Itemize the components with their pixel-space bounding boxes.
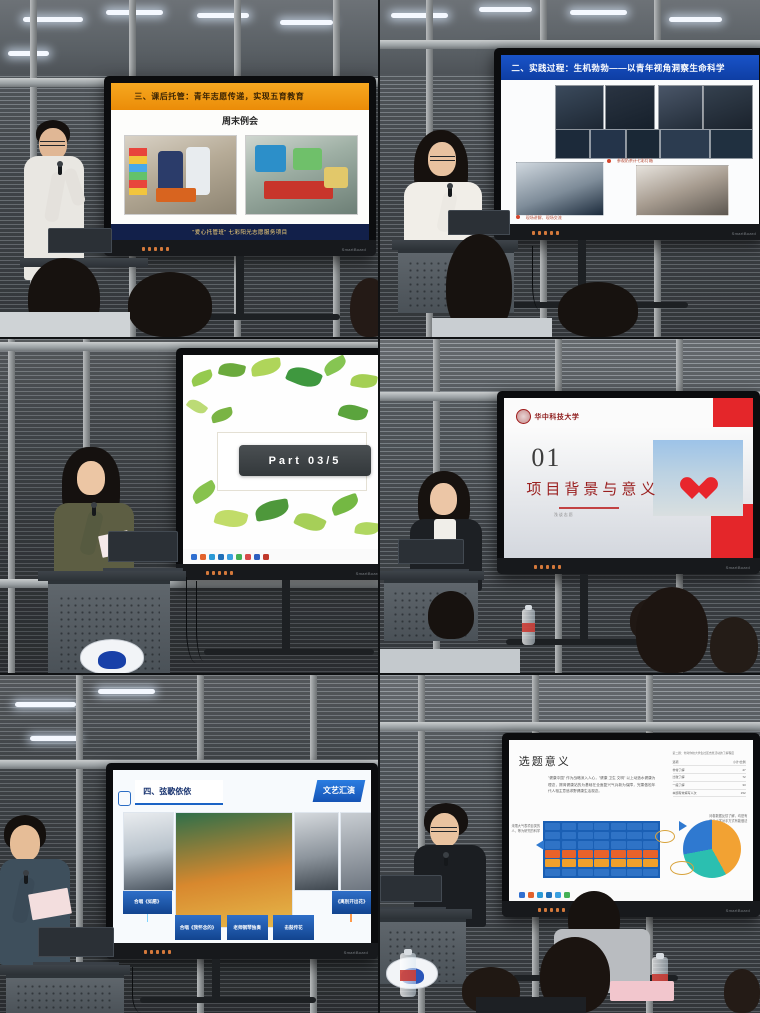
- table-row: 比较了解72: [673, 774, 746, 782]
- slide-topic-significance: 选题意义 "健康中国" 作为战略深入人心，"健康 卫生 文明" 以上动造水健康为…: [509, 740, 753, 901]
- brand-mark: SmartBoard: [342, 247, 366, 252]
- slide-badge: 文艺汇演: [313, 780, 366, 802]
- status-leds: [532, 231, 559, 235]
- ceiling: [0, 0, 378, 74]
- presenter-desk: [380, 909, 472, 919]
- slide-banner: 二、实践过程：生机勃勃——以青年视角洞察生命科学: [501, 55, 759, 80]
- presenter-desk: [380, 571, 484, 580]
- slide-subtitle: 周末例会: [111, 114, 369, 127]
- photo-collage: 三、课后托管：青年志愿传递，实现五育教育 周末例会: [0, 0, 760, 1013]
- audience-head: [724, 969, 760, 1013]
- panel-middle-left: Part 03/5 SmartBoard: [0, 339, 378, 673]
- highlight-ring: [655, 830, 675, 843]
- water-bottle: [400, 953, 416, 997]
- laptop[interactable]: [398, 539, 464, 573]
- panel-top-right: 二、实践过程：生机勃勃——以青年视角洞察生命科学: [380, 0, 760, 337]
- taskbar[interactable]: [509, 890, 753, 901]
- status-leds: [144, 950, 171, 954]
- ceiling-light: [15, 702, 75, 707]
- heart-icon: [692, 478, 718, 502]
- ceiling-light: [479, 7, 532, 12]
- smartboard-screen: 选题意义 "健康中国" 作为战略深入人心，"健康 卫生 文明" 以上动造水健康为…: [509, 740, 753, 901]
- podium-emblem: [80, 639, 144, 673]
- slide-caption: 老师钢琴独奏: [227, 915, 268, 939]
- smartboard-base: [204, 649, 374, 655]
- laptop[interactable]: [380, 875, 442, 911]
- smartboard-stand: [282, 580, 290, 654]
- slide-photo: [340, 812, 371, 892]
- smartboard-stand: [580, 574, 588, 644]
- slide-heatmap: [543, 821, 660, 879]
- ceiling-light: [30, 736, 79, 741]
- red-block: [713, 398, 753, 427]
- brand-mark: SmartBoard: [726, 908, 750, 913]
- pointer-arrow: [536, 840, 544, 850]
- slide-body-text: "健康中国" 作为战略深入人心，"健康 卫生 文明" 以上动造水健康为理念，擦育…: [548, 775, 655, 793]
- section-sub-label: 浅谈志愿: [554, 512, 574, 518]
- slide-badge-label: 文艺汇演: [323, 785, 355, 796]
- university-seal-icon: [516, 409, 531, 424]
- slide-annotation: 现场讲解、现场交流: [526, 215, 562, 221]
- brand-mark: SmartBoard: [344, 950, 368, 955]
- smartboard-screen: 二、实践过程：生机勃勃——以青年视角洞察生命科学: [501, 55, 759, 224]
- slide-part-divider: Part 03/5: [183, 355, 378, 564]
- smartboard[interactable]: 三、课后托管：青年志愿传递，实现五育教育 周末例会: [104, 76, 376, 256]
- panel-bottom-left: 四、弦歌依依 文艺汇演 合唱《如愿》 合唱《我怀念的》: [0, 675, 378, 1013]
- slide-caption: 击鼓传花: [273, 915, 314, 939]
- slide-title: 选题意义: [519, 753, 571, 769]
- panel-bottom-right: 选题意义 "健康中国" 作为战略深入人心，"健康 卫生 文明" 以上动造水健康为…: [380, 675, 760, 1013]
- slide-banner: 三、课后托管：青年志愿传递，实现五育教育: [111, 83, 369, 110]
- smartboard-chin: SmartBoard: [497, 558, 760, 574]
- slide-annotation: 参观奶茶计七彩灯箱: [617, 158, 653, 164]
- slide-photo-grid: 参观奶茶计七彩灯箱 现场讲解、现场交流: [511, 85, 751, 213]
- table-row: 本题有效填写人次152: [673, 790, 746, 798]
- slide-performance: 四、弦歌依依 文艺汇演 合唱《如愿》 合唱《我怀念的》: [113, 770, 371, 943]
- audience-head: [710, 617, 758, 673]
- slide-course-custody: 三、课后托管：青年志愿传递，实现五育教育 周末例会: [111, 83, 369, 240]
- panel-top-left: 三、课后托管：青年志愿传递，实现五育教育 周末例会: [0, 0, 378, 337]
- ceiling-light: [391, 13, 448, 18]
- audience-desk: [432, 318, 552, 337]
- microphone: [24, 873, 28, 884]
- microphone: [92, 505, 96, 516]
- audience-head: [636, 587, 708, 673]
- slide-footer: "爱心托管班" 七彩阳光志愿服务项目: [111, 224, 369, 240]
- slide-footer-text: "爱心托管班" 七彩阳光志愿服务项目: [192, 228, 287, 236]
- audience-head: [128, 272, 212, 337]
- highlight-ring: [670, 861, 694, 875]
- audience-head: [428, 591, 474, 639]
- audience-desk: [380, 649, 520, 673]
- slide-header-box: 四、弦歌依依: [135, 780, 222, 804]
- cable: [196, 581, 215, 661]
- section-title: 项目背景与意义: [526, 478, 659, 499]
- university-name: 华中科技大学: [534, 412, 579, 422]
- laptop[interactable]: [108, 531, 178, 573]
- water-bottle: [522, 609, 535, 645]
- smartboard[interactable]: Part 03/5 SmartBoard: [176, 348, 378, 580]
- table-row: 一般了解33: [673, 782, 746, 790]
- panel-middle-right: 华中科技大学 01 项目背景与意义 浅谈志愿 SmartBoard: [380, 339, 760, 673]
- title-rule: [559, 507, 619, 509]
- table-caption: 第二题：你对你校大学生社区志愿活动的了解程度: [673, 751, 746, 755]
- slide-annotation-left: 未限大气表项目类的人，等为研究的科学: [511, 824, 540, 834]
- smartboard-chin: SmartBoard: [502, 901, 760, 917]
- brand-mark: SmartBoard: [732, 231, 756, 236]
- slide-photo: [245, 135, 358, 216]
- smartboard-base: [140, 997, 316, 1003]
- audience-desk: [0, 312, 130, 337]
- microphone: [58, 164, 62, 175]
- smartboard-chin: SmartBoard: [106, 943, 378, 959]
- pointer-arrow: [679, 821, 687, 831]
- audience-papers: [610, 981, 674, 1001]
- microphone: [448, 186, 452, 197]
- smartboard[interactable]: 四、弦歌依依 文艺汇演 合唱《如愿》 合唱《我怀念的》: [106, 763, 378, 959]
- smartboard-screen: 四、弦歌依依 文艺汇演 合唱《如愿》 合唱《我怀念的》: [113, 770, 371, 943]
- smartboard-screen: 华中科技大学 01 项目背景与意义 浅谈志愿: [504, 398, 753, 558]
- slide-photo: [124, 135, 237, 216]
- slide-photo: [175, 812, 293, 928]
- university-logo: 华中科技大学: [516, 409, 579, 424]
- smartboard-chin: SmartBoard: [104, 240, 376, 256]
- slide-banner-title: 二、实践过程：生机勃勃——以青年视角洞察生命科学: [501, 62, 725, 74]
- brand-mark: SmartBoard: [726, 565, 750, 570]
- audience-head: [558, 282, 638, 337]
- table-row: 非常了解47: [673, 766, 746, 774]
- slide-caption: 合唱《如愿》: [123, 891, 172, 913]
- slide-caption: 《离别开出花》: [332, 891, 371, 913]
- slide-data-table: 第二题：你对你校大学生社区志愿活动的了解程度 选项小计/比例 非常了解47 比较…: [673, 751, 746, 797]
- status-leds: [206, 571, 233, 575]
- presenter-desk: [0, 965, 130, 975]
- podium: [6, 975, 124, 1013]
- slide-photo: [123, 812, 174, 892]
- slide-photo: [294, 812, 340, 892]
- audience-desk: [476, 997, 586, 1013]
- ceiling-light: [98, 689, 155, 694]
- slide-practice-process: 二、实践过程：生机勃勃——以青年视角洞察生命科学: [501, 55, 759, 224]
- smartboard-screen: 三、课后托管：青年志愿传递，实现五育教育 周末例会: [111, 83, 369, 240]
- smartboard-chin: SmartBoard: [494, 224, 760, 240]
- ceiling-light: [570, 10, 627, 15]
- microphone: [444, 855, 448, 866]
- slide-banner-title: 三、课后托管：青年志愿传递，实现五育教育: [111, 91, 304, 102]
- slide-section-cover: 华中科技大学 01 项目背景与意义 浅谈志愿: [504, 398, 753, 558]
- slide-header: 四、弦歌依依 文艺汇演: [121, 780, 364, 802]
- smartboard[interactable]: 选题意义 "健康中国" 作为战略深入人心，"健康 卫生 文明" 以上动造水健康为…: [502, 733, 760, 917]
- lectern-top: [38, 571, 186, 581]
- smartboard-stand: [236, 256, 244, 318]
- laptop[interactable]: [48, 228, 112, 262]
- status-leds: [538, 908, 565, 912]
- slide-part-label: Part 03/5: [269, 455, 342, 467]
- smartboard-screen: Part 03/5: [183, 355, 378, 564]
- smartboard[interactable]: 华中科技大学 01 项目背景与意义 浅谈志愿 SmartBoard: [497, 391, 760, 574]
- table-row: 选项小计/比例: [673, 758, 746, 766]
- smartboard[interactable]: 二、实践过程：生机勃勃——以青年视角洞察生命科学: [494, 48, 760, 240]
- ceiling-light: [197, 13, 250, 18]
- cable: [132, 967, 155, 1013]
- status-leds: [142, 247, 169, 251]
- slide-header-title: 四、弦歌依依: [135, 786, 191, 797]
- ceiling-light: [8, 51, 50, 56]
- audience-head: [350, 278, 378, 337]
- laptop[interactable]: [38, 927, 114, 967]
- slide-caption: 合唱《我怀念的》: [175, 915, 221, 939]
- brand-mark: SmartBoard: [356, 571, 378, 576]
- section-number: 01: [531, 443, 561, 473]
- slide-part-plaque: Part 03/5: [239, 445, 371, 476]
- status-leds: [534, 565, 561, 569]
- ceiling-light: [669, 17, 722, 22]
- cable: [532, 246, 551, 310]
- window-mullion: [8, 339, 15, 673]
- window-mullion: [380, 722, 760, 731]
- taskbar[interactable]: [183, 549, 378, 564]
- ceiling-light: [280, 20, 333, 25]
